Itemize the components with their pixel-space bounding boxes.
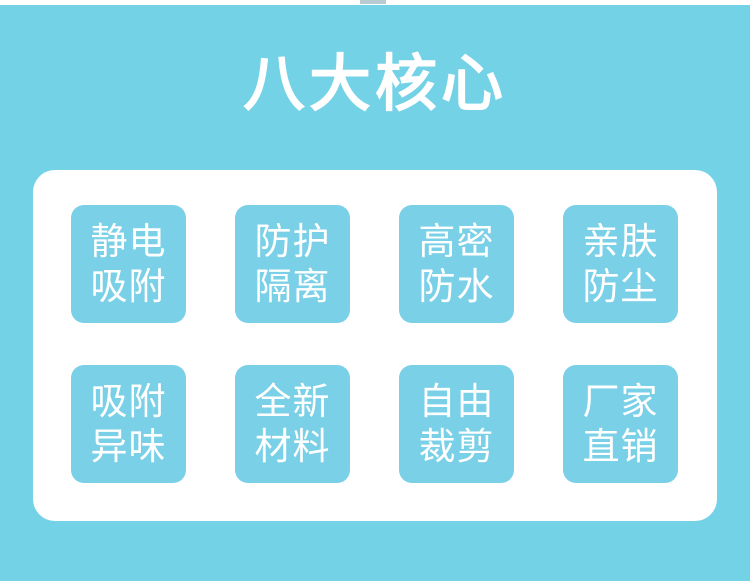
feature-card-8-line1: 厂家	[583, 379, 659, 424]
feature-card-2: 防护 隔离	[235, 205, 350, 323]
feature-card-6: 全新 材料	[235, 365, 350, 483]
top-edge-artifact	[360, 0, 386, 4]
feature-card-5-line2: 异味	[91, 424, 167, 469]
feature-card-4-line1: 亲肤	[583, 219, 659, 264]
features-grid: 静电 吸附 防护 隔离 高密 防水 亲肤 防尘 吸附 异味 全新 材料	[71, 205, 679, 483]
feature-card-1: 静电 吸附	[71, 205, 186, 323]
page-title: 八大核心	[0, 44, 750, 124]
feature-card-4-line2: 防尘	[583, 264, 659, 309]
feature-card-7-line1: 自由	[419, 379, 495, 424]
feature-card-1-line2: 吸附	[91, 264, 167, 309]
feature-card-1-line1: 静电	[91, 219, 167, 264]
feature-card-7-line2: 裁剪	[419, 424, 495, 469]
feature-card-5: 吸附 异味	[71, 365, 186, 483]
feature-card-5-line1: 吸附	[91, 379, 167, 424]
feature-card-3: 高密 防水	[399, 205, 514, 323]
feature-card-3-line2: 防水	[419, 264, 495, 309]
features-panel: 静电 吸附 防护 隔离 高密 防水 亲肤 防尘 吸附 异味 全新 材料	[33, 170, 717, 521]
feature-card-8: 厂家 直销	[563, 365, 678, 483]
feature-card-2-line1: 防护	[255, 219, 331, 264]
feature-card-2-line2: 隔离	[255, 264, 331, 309]
feature-card-3-line1: 高密	[419, 219, 495, 264]
feature-card-6-line2: 材料	[255, 424, 331, 469]
feature-card-6-line1: 全新	[255, 379, 331, 424]
feature-card-7: 自由 裁剪	[399, 365, 514, 483]
feature-card-8-line2: 直销	[583, 424, 659, 469]
promo-poster: 八大核心 静电 吸附 防护 隔离 高密 防水 亲肤 防尘 吸附 异味	[0, 0, 750, 581]
feature-card-4: 亲肤 防尘	[563, 205, 678, 323]
